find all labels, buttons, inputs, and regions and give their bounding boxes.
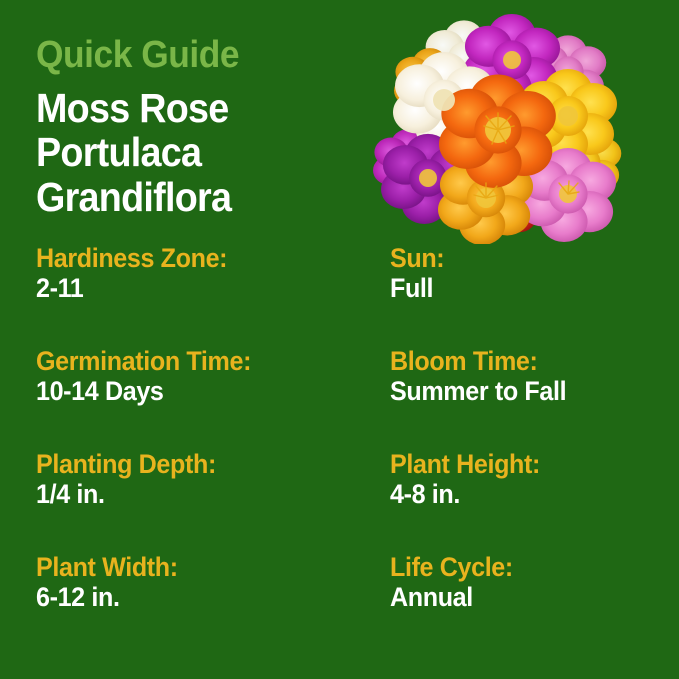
fact-value: 10-14 Days — [36, 376, 365, 406]
moss-rose-flower-cluster-image — [372, 12, 630, 244]
fact-value: Annual — [390, 582, 630, 612]
fact-value: 6-12 in. — [36, 582, 365, 612]
fact-plant-width: Plant Width: 6-12 in. — [36, 552, 390, 655]
title-line-3: Grandiflora — [36, 175, 349, 219]
fact-value: 1/4 in. — [36, 479, 365, 509]
fact-bloom-time: Bloom Time: Summer to Fall — [390, 346, 648, 449]
title-line-1: Moss Rose — [36, 86, 349, 130]
fact-germination-time: Germination Time: 10-14 Days — [36, 346, 390, 449]
fact-planting-depth: Planting Depth: 1/4 in. — [36, 449, 390, 552]
quick-guide-card: Quick Guide Moss Rose Portulaca Grandifl… — [0, 0, 679, 679]
fact-label: Plant Width: — [36, 552, 365, 582]
fact-label: Plant Height: — [390, 449, 630, 479]
fact-hardiness-zone: Hardiness Zone: 2-11 — [36, 243, 390, 346]
fact-label: Hardiness Zone: — [36, 243, 365, 273]
fact-value: Full — [390, 273, 630, 303]
fact-value: 2-11 — [36, 273, 365, 303]
page-title: Moss Rose Portulaca Grandiflora — [36, 86, 349, 219]
fact-label: Sun: — [390, 243, 630, 273]
fact-label: Life Cycle: — [390, 552, 630, 582]
fact-label: Planting Depth: — [36, 449, 365, 479]
fact-life-cycle: Life Cycle: Annual — [390, 552, 648, 655]
fact-grid: Hardiness Zone: 2-11 Sun: Full Germinati… — [36, 243, 648, 655]
fact-label: Bloom Time: — [390, 346, 630, 376]
header: Quick Guide Moss Rose Portulaca Grandifl… — [36, 36, 376, 219]
fact-label: Germination Time: — [36, 346, 365, 376]
fact-sun: Sun: Full — [390, 243, 648, 346]
fact-value: 4-8 in. — [390, 479, 630, 509]
fact-plant-height: Plant Height: 4-8 in. — [390, 449, 648, 552]
fact-value: Summer to Fall — [390, 376, 630, 406]
title-line-2: Portulaca — [36, 130, 349, 174]
kicker-quick-guide: Quick Guide — [36, 36, 352, 74]
